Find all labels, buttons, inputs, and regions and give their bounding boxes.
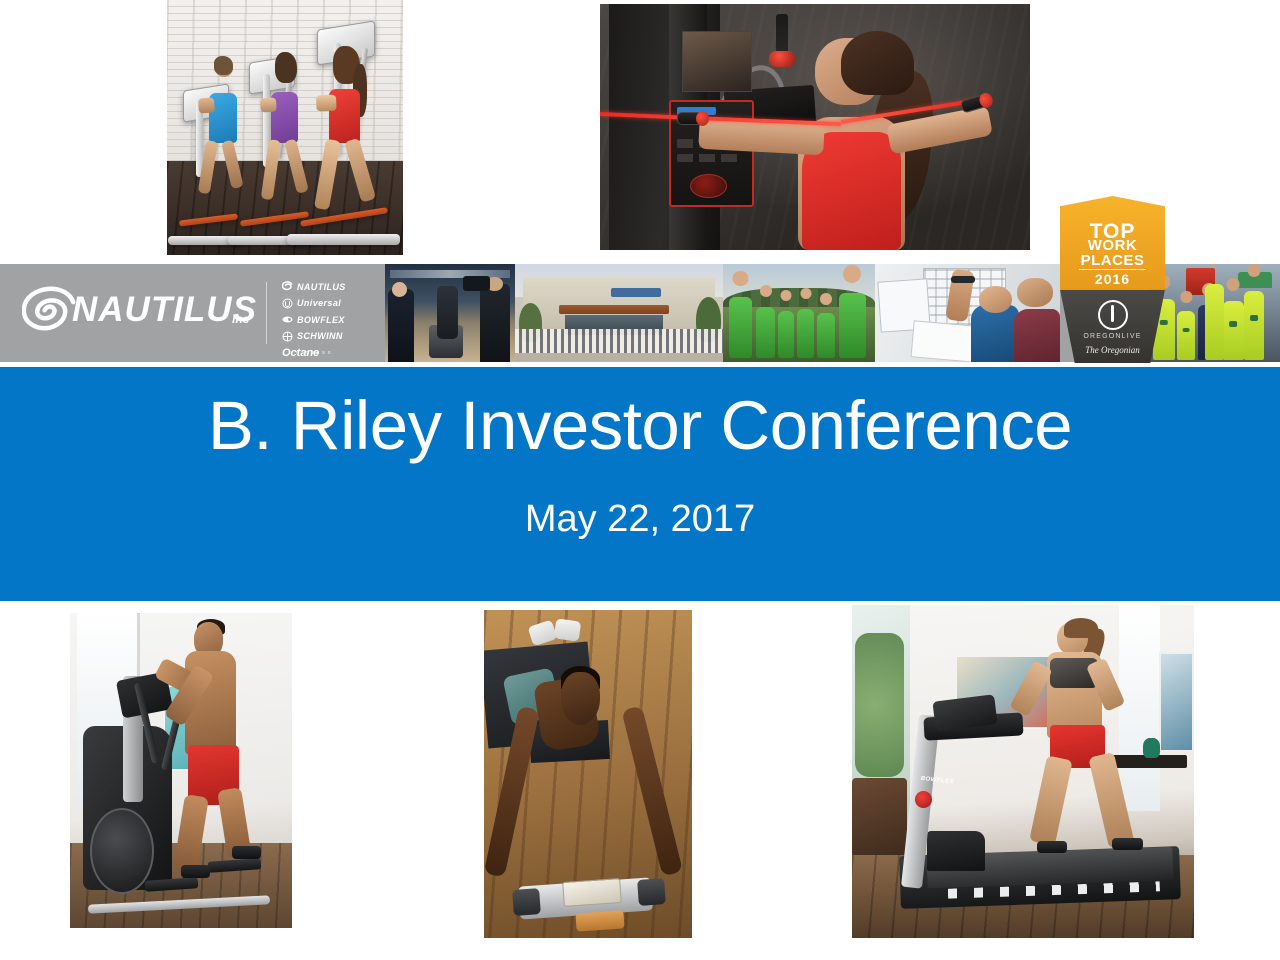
exerciser-woman-red-top [313, 51, 384, 209]
brand-item-nautilus: NAUTILUS [282, 280, 382, 293]
volunteer [817, 313, 835, 358]
band-photo-charity-race-team [1150, 264, 1280, 362]
octane-fitness-subtitle: FITNESS [296, 350, 333, 355]
presentation-slide: NAUTILUS Inc NAUTILUS [0, 0, 1280, 960]
exerciser-head [561, 672, 601, 724]
wall-art-right [1159, 652, 1194, 753]
slide-title: B. Riley Investor Conference [0, 390, 1280, 462]
exerciser-shoe-front [181, 865, 210, 878]
award-newspaper: The Oregonian [1060, 345, 1165, 355]
race-participant [1205, 284, 1225, 360]
leather-sofa [852, 778, 907, 858]
runner-hair [1064, 618, 1098, 638]
band-photo-engineers-reviewing-plans [875, 264, 1060, 362]
brand-divider [266, 282, 267, 344]
award-line-places: PLACES [1060, 253, 1165, 268]
nautilus-swirl-icon [22, 286, 76, 338]
drawing-sheet [910, 320, 978, 362]
engineer-maroon-shirt [1014, 309, 1060, 362]
entrance-canopy [559, 305, 669, 314]
brand-item-universal: Universal [282, 297, 382, 310]
hvt-hanging-handle [776, 14, 788, 58]
brand-label: SCHWINN [297, 331, 343, 341]
treadmill-motor-cover [927, 831, 985, 871]
brand-label: NAUTILUS [297, 282, 346, 292]
brand-label: BOWFLEX [297, 315, 345, 325]
photo-man-using-core-roller-trainer [484, 610, 692, 938]
runner-shoe-back [1112, 838, 1143, 850]
award-publisher: OREGONLIVE [1060, 333, 1165, 340]
universal-u-mark [282, 298, 293, 309]
ground [515, 353, 723, 362]
nautilus-swirl-mark [282, 281, 293, 292]
runner-shoe-front [1037, 841, 1068, 853]
window-right [1119, 605, 1160, 811]
engineer-blue-shirt [971, 305, 1019, 362]
core-trainer-roller [575, 910, 624, 931]
race-participant [1244, 291, 1265, 360]
band-photo-media-tv-studio-demo [385, 264, 515, 362]
engineer-blue-shirt-head [979, 286, 1012, 313]
volunteer [729, 297, 752, 358]
band-photo-volunteer-team-outdoors [723, 264, 875, 362]
exerciser-foot-right [553, 618, 580, 641]
wristwatch [951, 276, 975, 283]
brand-label: Universal [297, 298, 341, 308]
band-photo-corporate-headquarters-employees [515, 264, 723, 362]
brand-item-bowflex: BOWFLEX [282, 313, 382, 326]
volunteer [797, 309, 814, 358]
camera-operator [480, 284, 510, 362]
demo-rider [437, 286, 458, 340]
nautilus-wordmark: NAUTILUS [72, 290, 257, 330]
volunteer [839, 293, 866, 358]
host-in-suit [388, 289, 414, 362]
nautilus-logo-block: NAUTILUS Inc NAUTILUS [0, 264, 385, 362]
title-banner: B. Riley Investor Conference May 22, 201… [0, 367, 1280, 601]
photo-woman-running-on-bowflex-treadmill: BOWFLEX [852, 605, 1194, 938]
hvt-button-row-2 [677, 154, 737, 162]
broadcast-camera [463, 276, 490, 292]
hvt-handle-left [677, 112, 705, 125]
core-trainer-grip-right [637, 878, 666, 906]
decor-vase [1143, 738, 1160, 758]
hvt-dial [690, 174, 726, 198]
core-trainer-grip-left [512, 888, 541, 916]
photo-three-people-on-commercial-ellipticals [167, 0, 403, 255]
slide-date-subtitle: May 22, 2017 [0, 499, 1280, 541]
award-year: 2016 [1060, 272, 1165, 286]
core-trainer-pad [562, 878, 622, 907]
exerciser-man-blue-shirt [195, 59, 256, 192]
hvt-display-screen [682, 31, 753, 92]
race-participant [1177, 311, 1195, 360]
exerciser-shoe-back [232, 846, 261, 859]
award-line-work: WORK [1060, 238, 1165, 253]
race-participant [1223, 301, 1244, 360]
employee-group [515, 329, 723, 354]
volunteer [756, 307, 774, 358]
brand-item-schwinn: SCHWINN [282, 330, 382, 343]
bowflex-mark [282, 314, 293, 325]
photo-man-on-bowflex-max-trainer [70, 613, 292, 928]
exerciser-woman-purple-shirt [257, 56, 318, 199]
building-nautilus-sign [611, 288, 661, 298]
photo-woman-using-bowflex-hvt-home-gym [600, 4, 1030, 250]
schwinn-crosshair-mark [282, 331, 293, 342]
volunteer [778, 311, 795, 358]
nautilus-inc-suffix: Inc [232, 312, 249, 326]
top-work-places-award-badge: TOP WORK PLACES 2016 OREGONLIVE The Oreg… [1060, 196, 1165, 363]
engineer-maroon-shirt-head [1017, 278, 1052, 307]
oregonian-o-icon [1098, 300, 1128, 330]
athlete-hair [841, 31, 914, 95]
